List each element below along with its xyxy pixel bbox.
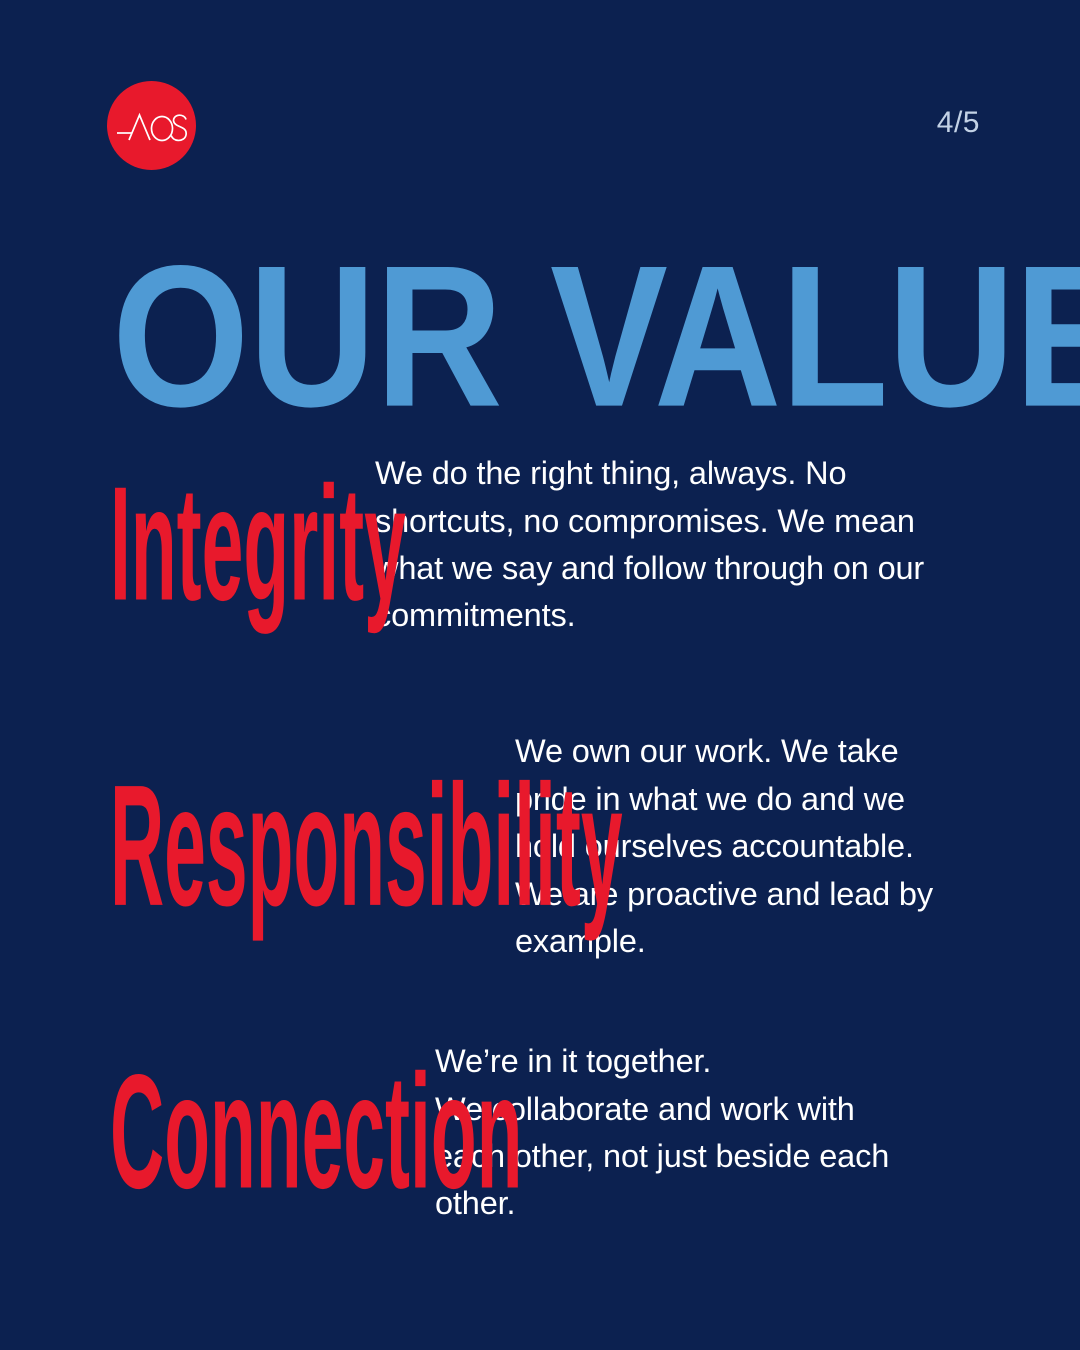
aos-logo[interactable] [107,81,196,170]
value-name-integrity: Integrity [110,468,254,622]
slide-canvas: 4/5 OUR VALUES Integrity We do the right… [0,0,1080,1350]
value-item-responsibility: Responsibility We own our work. We take … [0,723,1080,971]
aos-logo-icon [116,109,188,143]
value-item-connection: Connection We’re in it together.We colla… [0,1033,1080,1233]
page-title: OUR VALUES [112,236,1080,437]
slide-header: 4/5 [0,0,1080,210]
value-item-integrity: Integrity We do the right thing, always.… [0,445,1080,645]
value-name-connection: Connection [110,1056,290,1210]
values-list: Integrity We do the right thing, always.… [0,445,1080,1233]
value-description-integrity: We do the right thing, always. No shortc… [375,450,970,640]
value-name-responsibility: Responsibility [110,765,335,929]
page-indicator: 4/5 [937,108,980,138]
